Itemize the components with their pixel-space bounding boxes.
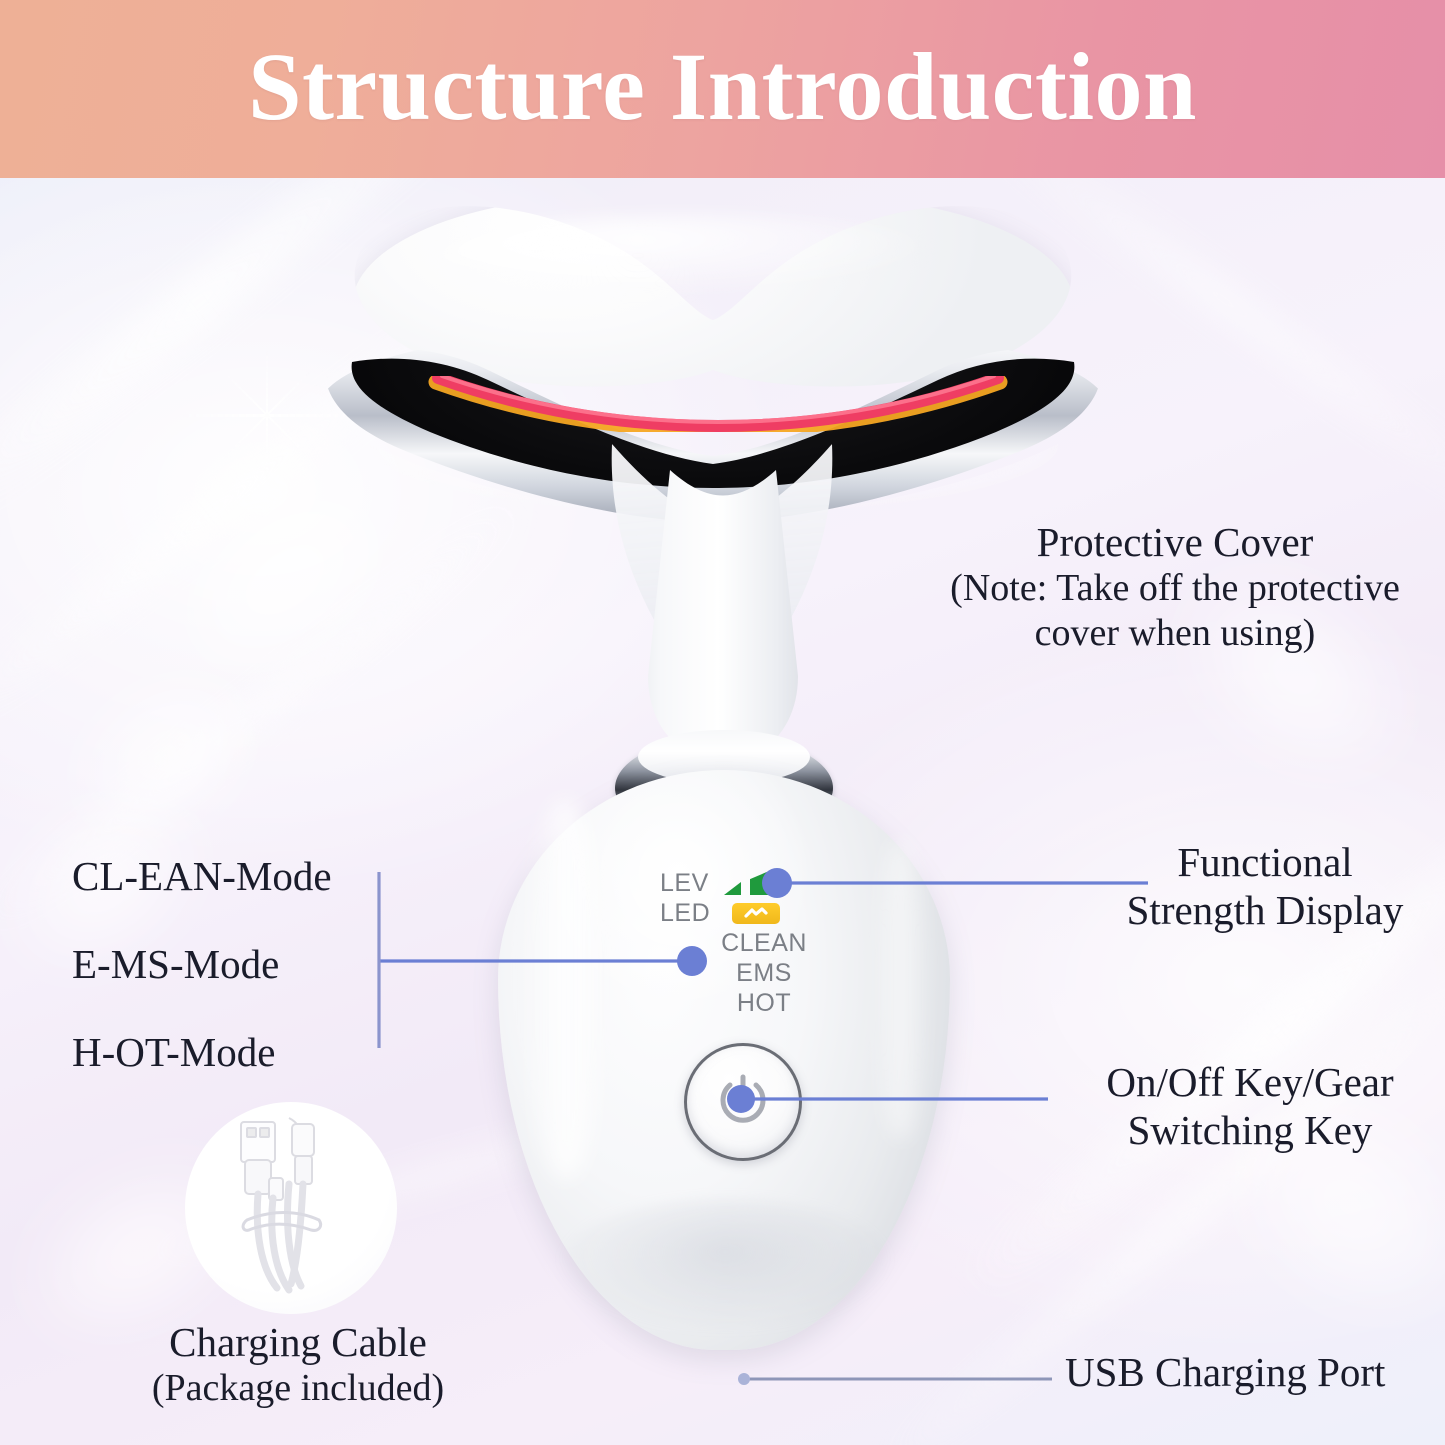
- functional-display-line1: Functional: [1100, 838, 1430, 886]
- callout-protective-cover: Protective Cover (Note: Take off the pro…: [940, 518, 1410, 656]
- protective-cover-note-line2: cover when using): [940, 611, 1410, 656]
- leader-dot-power: [727, 1085, 755, 1113]
- leader-dot-lev: [762, 868, 792, 898]
- callout-modes: CL-EAN-Mode E-MS-Mode H-OT-Mode: [72, 852, 372, 1116]
- mode-label-clean: CL-EAN-Mode: [72, 852, 372, 940]
- charging-cable-title: Charging Cable: [128, 1318, 468, 1366]
- protective-cover-title: Protective Cover: [940, 518, 1410, 566]
- mode-label-ems: E-MS-Mode: [72, 940, 372, 1028]
- leader-lines: [0, 0, 1445, 1445]
- callout-on-off-key: On/Off Key/Gear Switching Key: [1065, 1058, 1435, 1155]
- infographic-page: Structure Introduction LEV: [0, 0, 1445, 1445]
- mode-label-hot: H-OT-Mode: [72, 1028, 372, 1116]
- on-off-key-line2: Switching Key: [1065, 1106, 1435, 1154]
- on-off-key-line1: On/Off Key/Gear: [1065, 1058, 1435, 1106]
- functional-display-line2: Strength Display: [1100, 886, 1430, 934]
- leader-dot-ems: [677, 946, 707, 976]
- usb-charging-port-label: USB Charging Port: [1065, 1348, 1445, 1396]
- callout-usb-charging-port: USB Charging Port: [1065, 1348, 1445, 1396]
- charging-cable-subtitle: (Package included): [128, 1366, 468, 1411]
- callout-functional-strength-display: Functional Strength Display: [1100, 838, 1430, 935]
- protective-cover-note-line1: (Note: Take off the protective: [940, 566, 1410, 611]
- callout-charging-cable: Charging Cable (Package included): [128, 1318, 468, 1411]
- leader-dot-usb: [738, 1373, 750, 1385]
